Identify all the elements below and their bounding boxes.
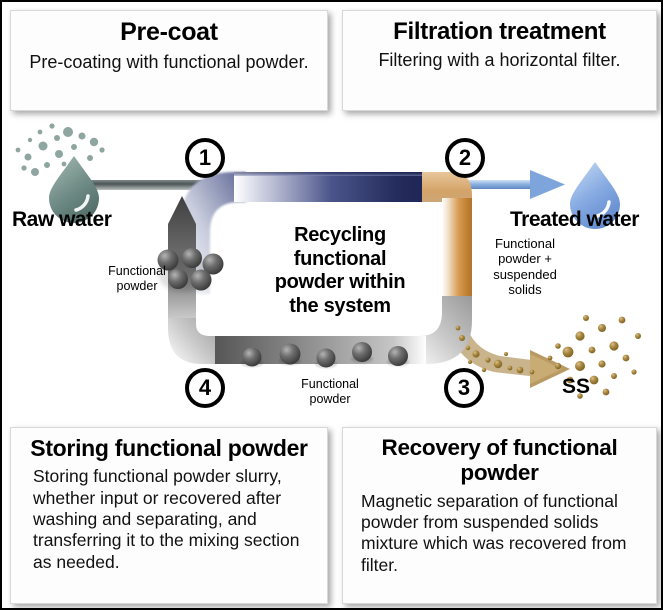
step-marker-3[interactable]: 3 <box>444 368 484 408</box>
panel-filtration-treatment-body: Filtering with a horizontal filter. <box>353 50 646 72</box>
functional-powder-plus-suspended-solids-label: Functional powder + suspended solids <box>489 236 561 297</box>
panel-pre-coat-body: Pre-coating with functional powder. <box>21 52 317 74</box>
center-recycling-text: Recycling functional powder within the s… <box>260 224 420 318</box>
panel-filtration-treatment-title: Filtration treatment <box>353 19 646 45</box>
panel-recovery-body: Magnetic separation of functional powder… <box>353 491 646 576</box>
inlet-pipe <box>90 180 208 190</box>
raw-water-label: Raw water <box>12 208 111 232</box>
step-marker-2[interactable]: 2 <box>445 138 485 178</box>
panel-filtration-treatment: Filtration treatment Filtering with a ho… <box>342 10 657 111</box>
panel-recovery-title: Recovery of functional powder <box>353 436 646 486</box>
functional-powder-label-bottom: Functional powder <box>285 377 375 406</box>
panel-recovery-of-functional-powder: Recovery of functional powder Magnetic s… <box>342 427 657 604</box>
step-marker-4[interactable]: 4 <box>185 368 225 408</box>
panel-pre-coat-title: Pre-coat <box>21 19 317 47</box>
ss-label: SS <box>562 375 590 399</box>
panel-storing-body: Storing functional powder slurry, whethe… <box>21 466 317 573</box>
functional-powder-label-left: Functional powder <box>98 264 176 293</box>
panel-storing-title: Storing functional powder <box>21 436 317 461</box>
panel-pre-coat: Pre-coat Pre-coating with functional pow… <box>10 10 328 111</box>
step-marker-1[interactable]: 1 <box>185 138 225 178</box>
diagram-root: Pre-coat Pre-coating with functional pow… <box>0 0 663 610</box>
treated-water-label: Treated water <box>510 208 639 232</box>
raw-water-splash-particles <box>16 123 105 176</box>
panel-storing-functional-powder: Storing functional powder Storing functi… <box>10 427 328 604</box>
